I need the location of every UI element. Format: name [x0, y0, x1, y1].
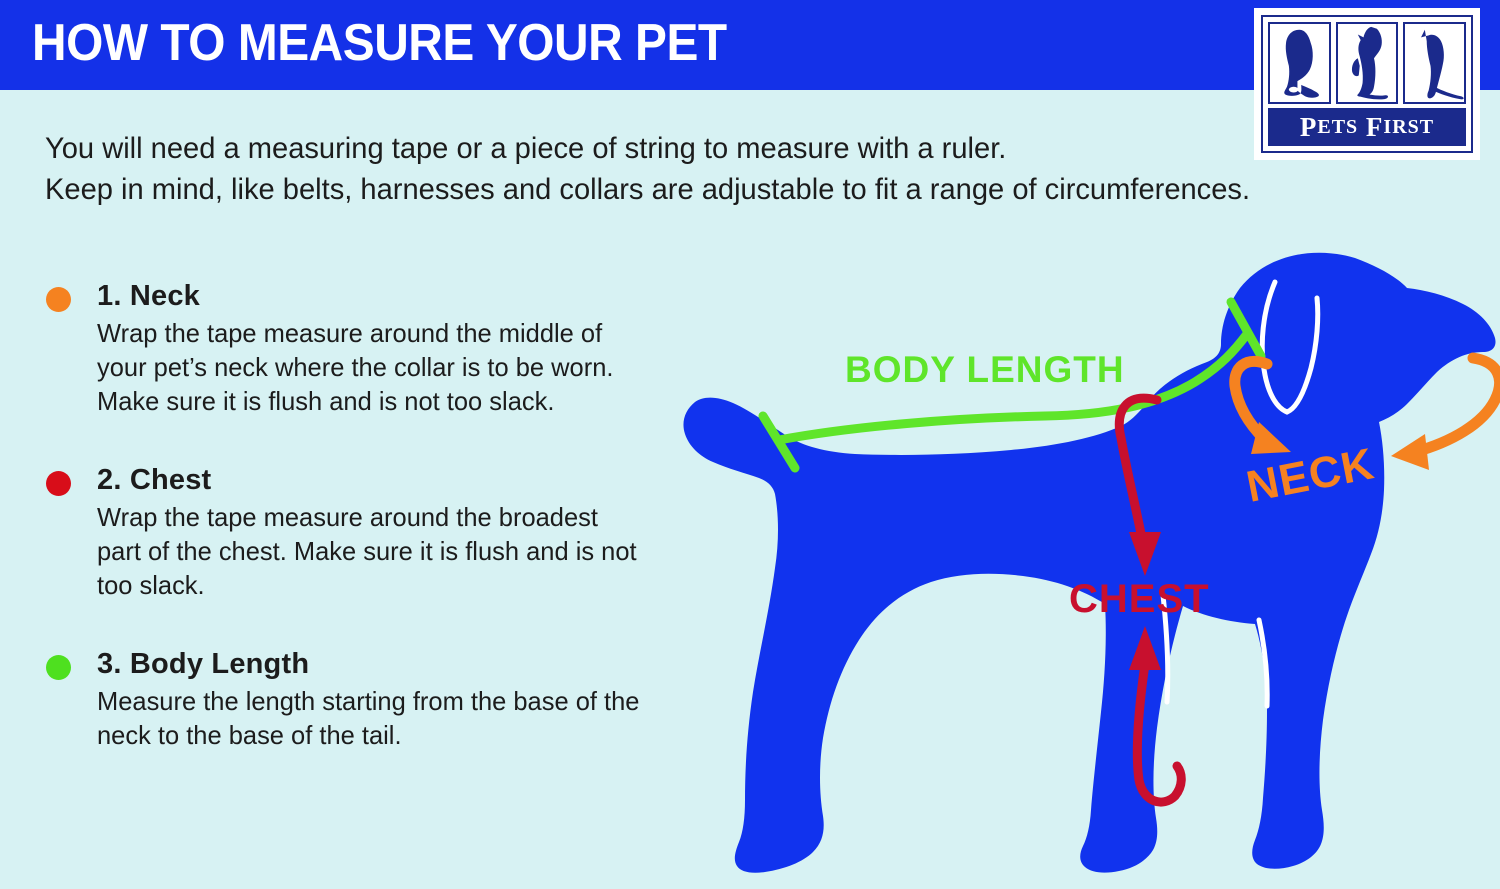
step-item-neck: 1. Neck Wrap the tape measure around the…: [44, 278, 669, 418]
intro-line-1: You will need a measuring tape or a piec…: [45, 128, 1296, 169]
logo-word-f: F: [1366, 112, 1384, 143]
neck-arrow-head-right: [1391, 434, 1429, 470]
dog-silhouette: [683, 253, 1495, 873]
step-title-chest: 2. Chest: [97, 462, 669, 498]
howling-dog-icon: [1338, 24, 1397, 102]
logo-panel-sitting-dog: [1268, 22, 1331, 104]
standing-dog-icon: [1405, 24, 1464, 102]
step-title-body-length: 3. Body Length: [97, 646, 669, 682]
page-title: HOW TO MEASURE YOUR PET: [32, 13, 727, 73]
step-body-neck-line-3: Make sure it is flush and is not too sla…: [97, 384, 658, 418]
dog-diagram-svg: BODY LENGTH NECK CHEST: [655, 240, 1500, 889]
step-body-body-length-line-2: neck to the base of the tail.: [97, 718, 658, 752]
step-body-chest-line-3: too slack.: [97, 568, 658, 602]
step-dot-neck: [46, 287, 71, 312]
step-item-body-length: 3. Body Length Measure the length starti…: [44, 646, 669, 752]
annotation-label-chest: CHEST: [1069, 577, 1210, 621]
measurement-steps-list: 1. Neck Wrap the tape measure around the…: [44, 278, 669, 796]
step-body-chest: Wrap the tape measure around the broades…: [97, 500, 658, 602]
annotation-label-body-length: BODY LENGTH: [845, 349, 1125, 390]
step-title-neck: 1. Neck: [97, 278, 669, 314]
step-dot-body-length: [46, 655, 71, 680]
dog-measurement-diagram: BODY LENGTH NECK CHEST: [655, 240, 1500, 889]
intro-paragraph: You will need a measuring tape or a piec…: [45, 128, 1335, 210]
step-body-neck: Wrap the tape measure around the middle …: [97, 316, 658, 418]
logo-panel-standing-dog: [1403, 22, 1466, 104]
step-body-body-length-line-1: Measure the length starting from the bas…: [97, 684, 658, 718]
step-item-chest: 2. Chest Wrap the tape measure around th…: [44, 462, 669, 602]
logo-dog-panels: [1268, 22, 1466, 104]
step-body-body-length: Measure the length starting from the bas…: [97, 684, 658, 752]
logo-panel-howling-dog: [1336, 22, 1399, 104]
step-body-neck-line-2: your pet’s neck where the collar is to b…: [97, 350, 658, 384]
intro-line-2: Keep in mind, like belts, harnesses and …: [45, 169, 1296, 210]
logo-word-irst: IRST: [1383, 116, 1434, 139]
step-body-chest-line-2: part of the chest. Make sure it is flush…: [97, 534, 658, 568]
step-dot-chest: [46, 471, 71, 496]
sitting-dog-icon: [1270, 24, 1329, 102]
step-body-chest-line-1: Wrap the tape measure around the broades…: [97, 500, 658, 534]
step-body-neck-line-1: Wrap the tape measure around the middle …: [97, 316, 658, 350]
